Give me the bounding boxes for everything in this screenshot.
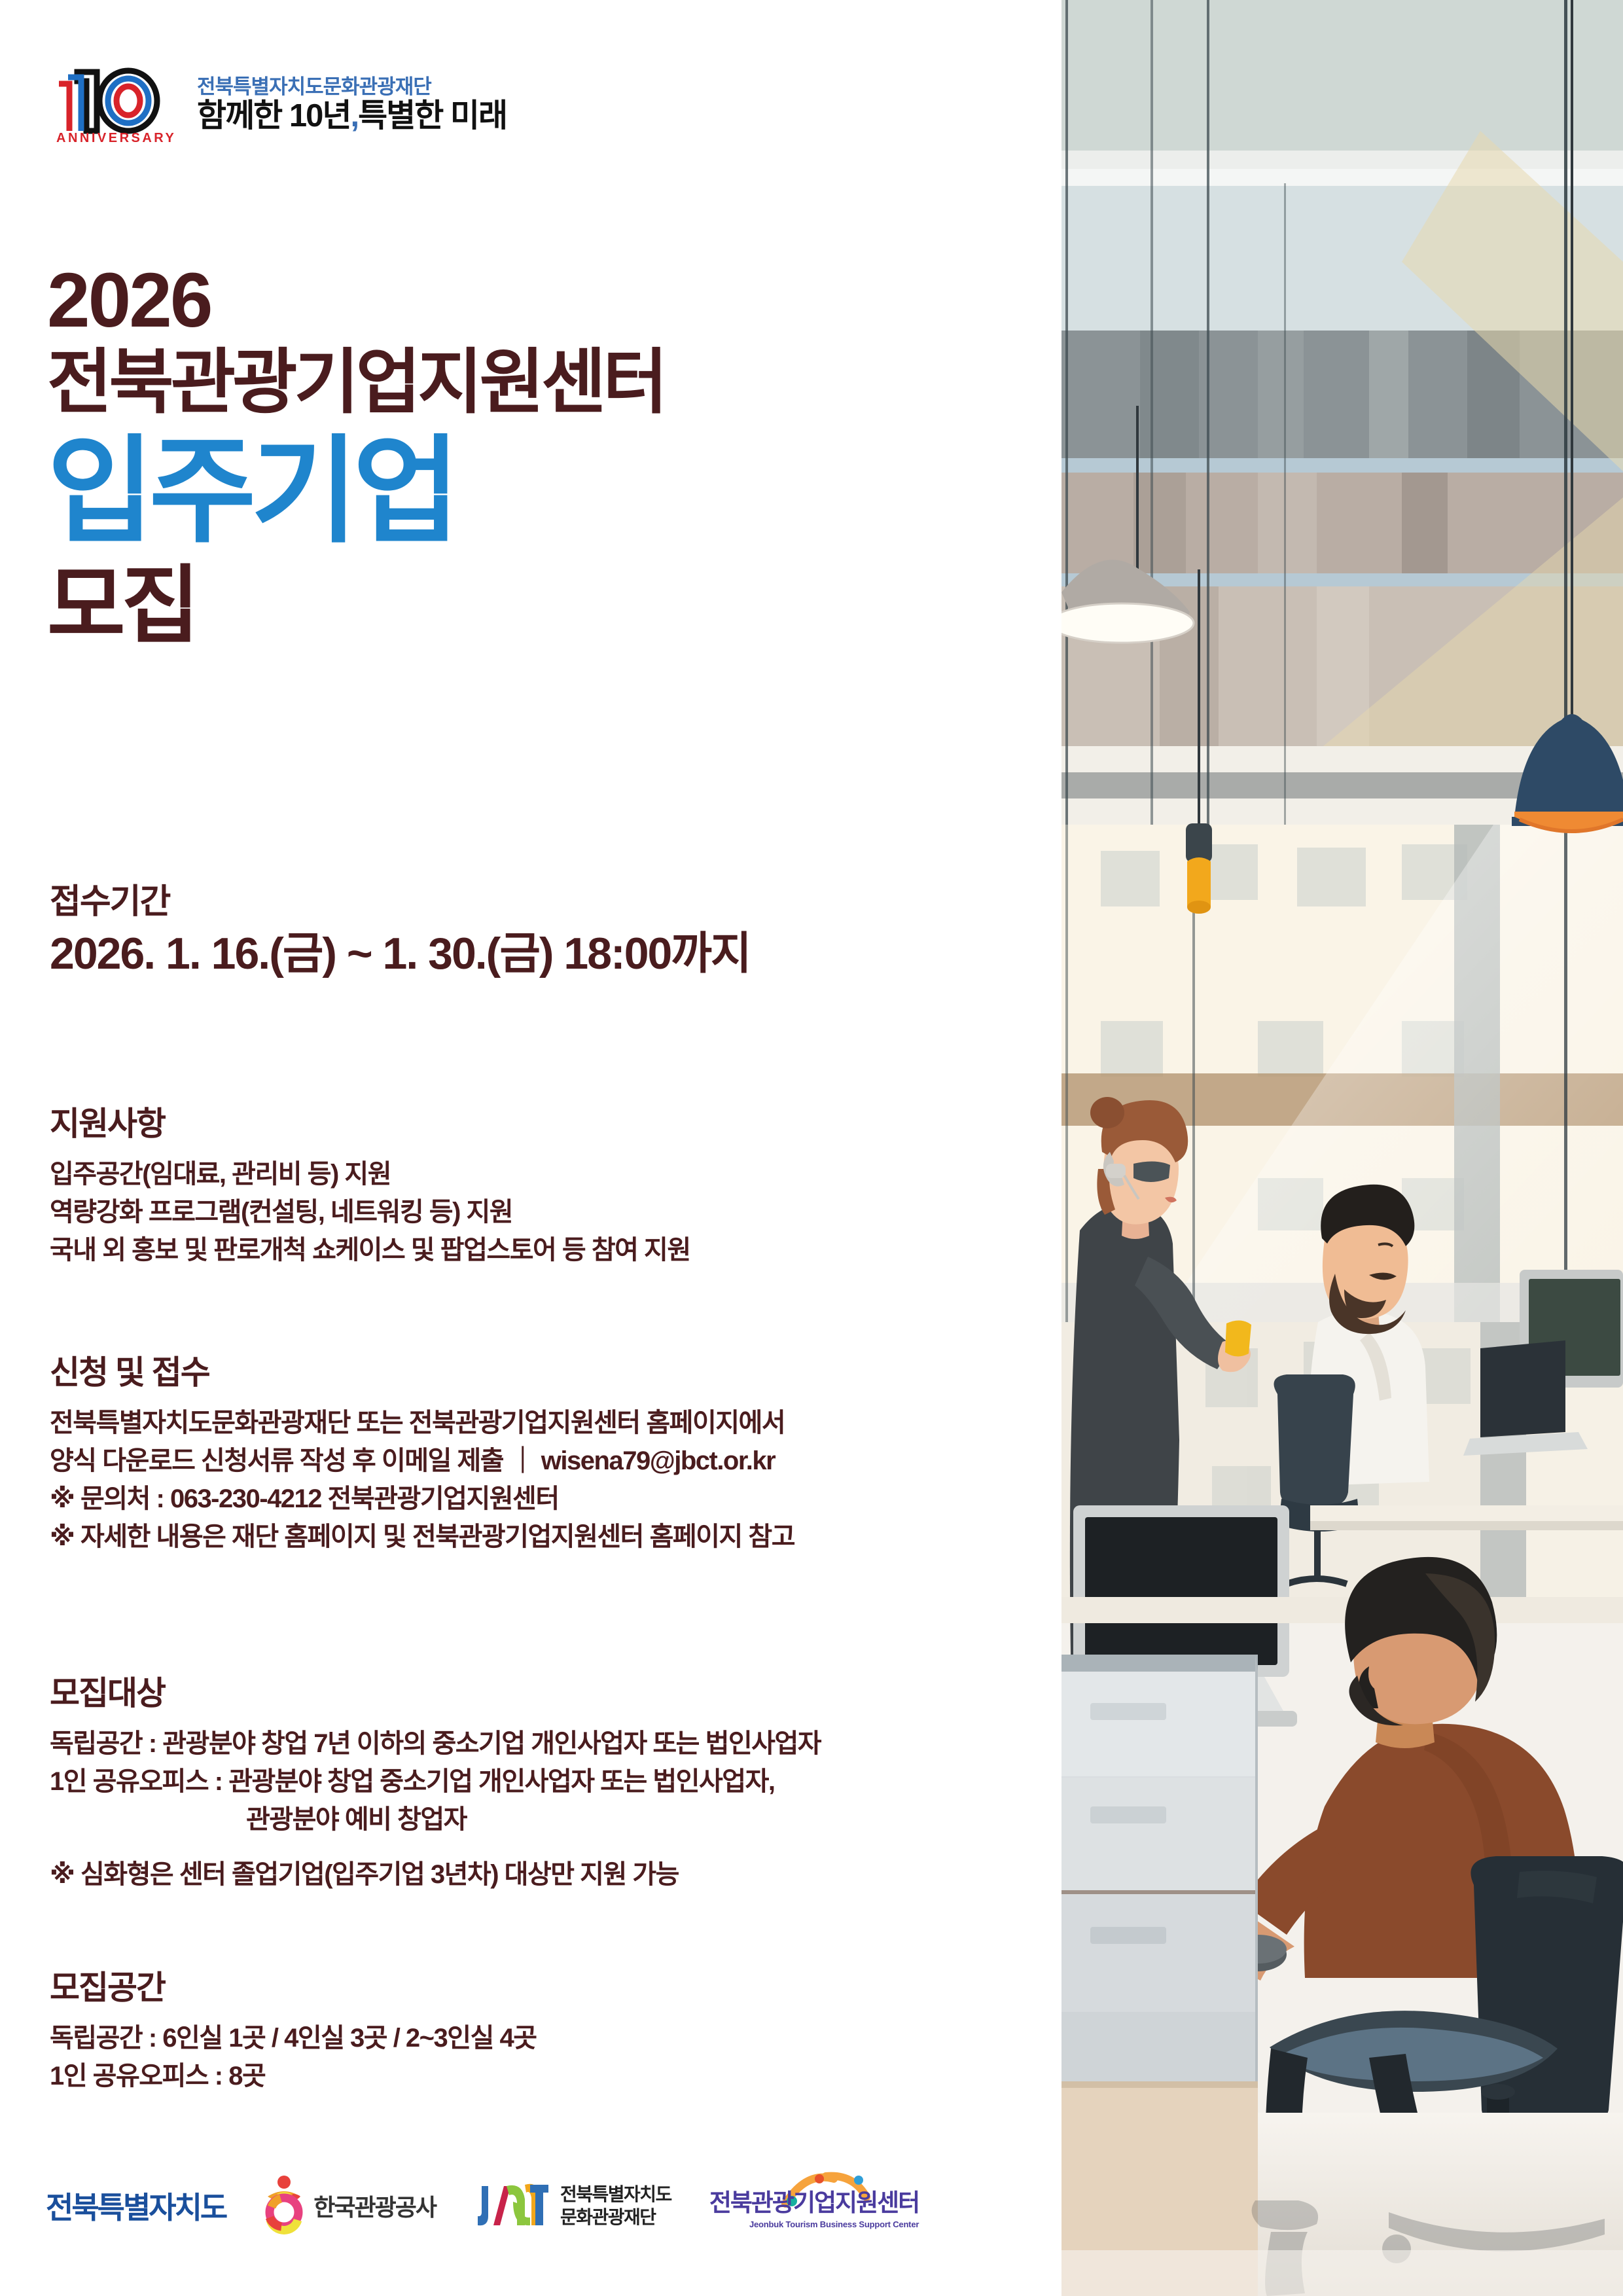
support-line-2: 역량강화 프로그램(컨설팅, 네트워킹 등) 지원: [50, 1193, 1051, 1231]
content-column: ANNIVERSARY 전북특별자치도문화관광재단 함께한 10년,특별한 미래…: [0, 0, 1061, 2296]
section-apply: 신청 및 접수 전북특별자치도문화관광재단 또는 전북관광기업지원센터 홈페이지…: [50, 1355, 1051, 1556]
apply-line-note: ※ 자세한 내용은 재단 홈페이지 및 전북관광기업지원센터 홈페이지 참고: [50, 1518, 1051, 1556]
space-line-2: 1인 공유오피스 : 8곳: [50, 2057, 1051, 2095]
kto-mark-icon: [264, 2174, 304, 2237]
slogan-comma: ,: [350, 98, 358, 134]
title-highlight: 입주기업: [47, 426, 1029, 556]
section-support-heading: 지원사항: [50, 1106, 1051, 1142]
footer-logo-row: 전북특별자치도 한국관광공사: [46, 2166, 1041, 2245]
section-target-heading: 모집대상: [50, 1676, 1051, 1712]
title-year: 2026: [47, 262, 1029, 339]
application-period-block: 접수기간 2026. 1. 16.(금) ~ 1. 30.(금) 18:00까지: [50, 884, 1044, 980]
logo-kto-label: 한국관광공사: [313, 2189, 436, 2223]
section-target: 모집대상 독립공간 : 관광분야 창업 7년 이하의 중소기업 개인사업자 또는…: [50, 1676, 1051, 1893]
target-line-2: 1인 공유오피스 : 관광분야 창업 중소기업 개인사업자 또는 법인사업자,: [50, 1763, 1051, 1801]
section-space-heading: 모집공간: [50, 1970, 1051, 2006]
period-label: 접수기간: [50, 884, 1044, 921]
anniversary-slogan: 함께한 10년,특별한 미래: [197, 99, 507, 133]
logo-jact-line1: 전북특별자치도: [560, 2183, 671, 2206]
anniversary-text-group: 전북특별자치도문화관광재단 함께한 10년,특별한 미래: [197, 74, 507, 133]
target-line-note: ※ 심화형은 센터 졸업기업(입주기업 3년차) 대상만 지원 가능: [50, 1856, 1051, 1893]
office-illustration: [1061, 0, 1623, 2296]
slogan-part-a: 함께한 10년: [197, 98, 350, 134]
title-action: 모집: [47, 559, 1029, 653]
slogan-part-b: 특별한 미래: [358, 98, 507, 134]
logo-jtbsc: 전북관광기업지원센터 Jeonbuk Tourism Business Supp…: [709, 2183, 919, 2229]
logo-korea-tourism-organization: 한국관광공사: [264, 2174, 436, 2237]
filing-cabinet: [1061, 1655, 1258, 2113]
space-line-1: 독립공간 : 6인실 1곳 / 4인실 3곳 / 2~3인실 4곳: [50, 2019, 1051, 2057]
main-title-block: 2026 전북관광기업지원센터 입주기업 모집: [47, 262, 1029, 653]
logo-jtbsc-label: 전북관광기업지원센터: [709, 2183, 919, 2218]
poster-root: ANNIVERSARY 전북특별자치도문화관광재단 함께한 10년,특별한 미래…: [0, 0, 1623, 2296]
logo-jtbsc-text: 전북관광기업지원센터 Jeonbuk Tourism Business Supp…: [709, 2183, 919, 2229]
apply-line-email: 양식 다운로드 신청서류 작성 후 이메일 제출 ｜ wisena79@jbct…: [50, 1442, 1051, 1480]
logo-jact-line2: 문화관광재단: [560, 2206, 671, 2229]
support-line-1: 입주공간(임대료, 관리비 등) 지원: [50, 1155, 1051, 1193]
logo-jact-label: 전북특별자치도 문화관광재단: [560, 2183, 671, 2229]
target-line-1: 독립공간 : 관광분야 창업 7년 이하의 중소기업 개인사업자 또는 법인사업…: [50, 1725, 1051, 1763]
support-line-3: 국내 외 홍보 및 판로개척 쇼케이스 및 팝업스토어 등 참여 지원: [50, 1231, 1051, 1269]
section-apply-heading: 신청 및 접수: [50, 1355, 1051, 1391]
apply-line-phone: ※ 문의처 : 063-230-4212 전북관광기업지원센터: [50, 1480, 1051, 1518]
section-support: 지원사항 입주공간(임대료, 관리비 등) 지원 역량강화 프로그램(컨설팅, …: [50, 1106, 1051, 1269]
title-center-name: 전북관광기업지원센터: [47, 343, 1029, 422]
anniversary-organization: 전북특별자치도문화관광재단: [197, 77, 507, 97]
logo-jeonbuk-province: 전북특별자치도: [46, 2184, 226, 2227]
section-space: 모집공간 독립공간 : 6인실 1곳 / 4인실 3곳 / 2~3인실 4곳 1…: [50, 1970, 1051, 2095]
anniversary-10-logo: ANNIVERSARY: [39, 58, 180, 149]
logo-jtbsc-subtitle: Jeonbuk Tourism Business Support Center: [709, 2219, 919, 2229]
office-illustration-svg: [1061, 0, 1623, 2296]
logo-jeonbuk-province-label: 전북특별자치도: [46, 2184, 226, 2227]
target-line-3: 관광분야 예비 창업자: [50, 1801, 1051, 1839]
anniversary-word: ANNIVERSARY: [56, 131, 176, 146]
period-value: 2026. 1. 16.(금) ~ 1. 30.(금) 18:00까지: [50, 927, 1044, 980]
apply-line-1: 전북특별자치도문화관광재단 또는 전북관광기업지원센터 홈페이지에서: [50, 1404, 1051, 1442]
logo-jact-foundation: 전북특별자치도 문화관광재단: [474, 2176, 671, 2236]
jact-mark-icon: [474, 2176, 551, 2236]
anniversary-banner: ANNIVERSARY 전북특별자치도문화관광재단 함께한 10년,특별한 미래: [39, 58, 507, 149]
